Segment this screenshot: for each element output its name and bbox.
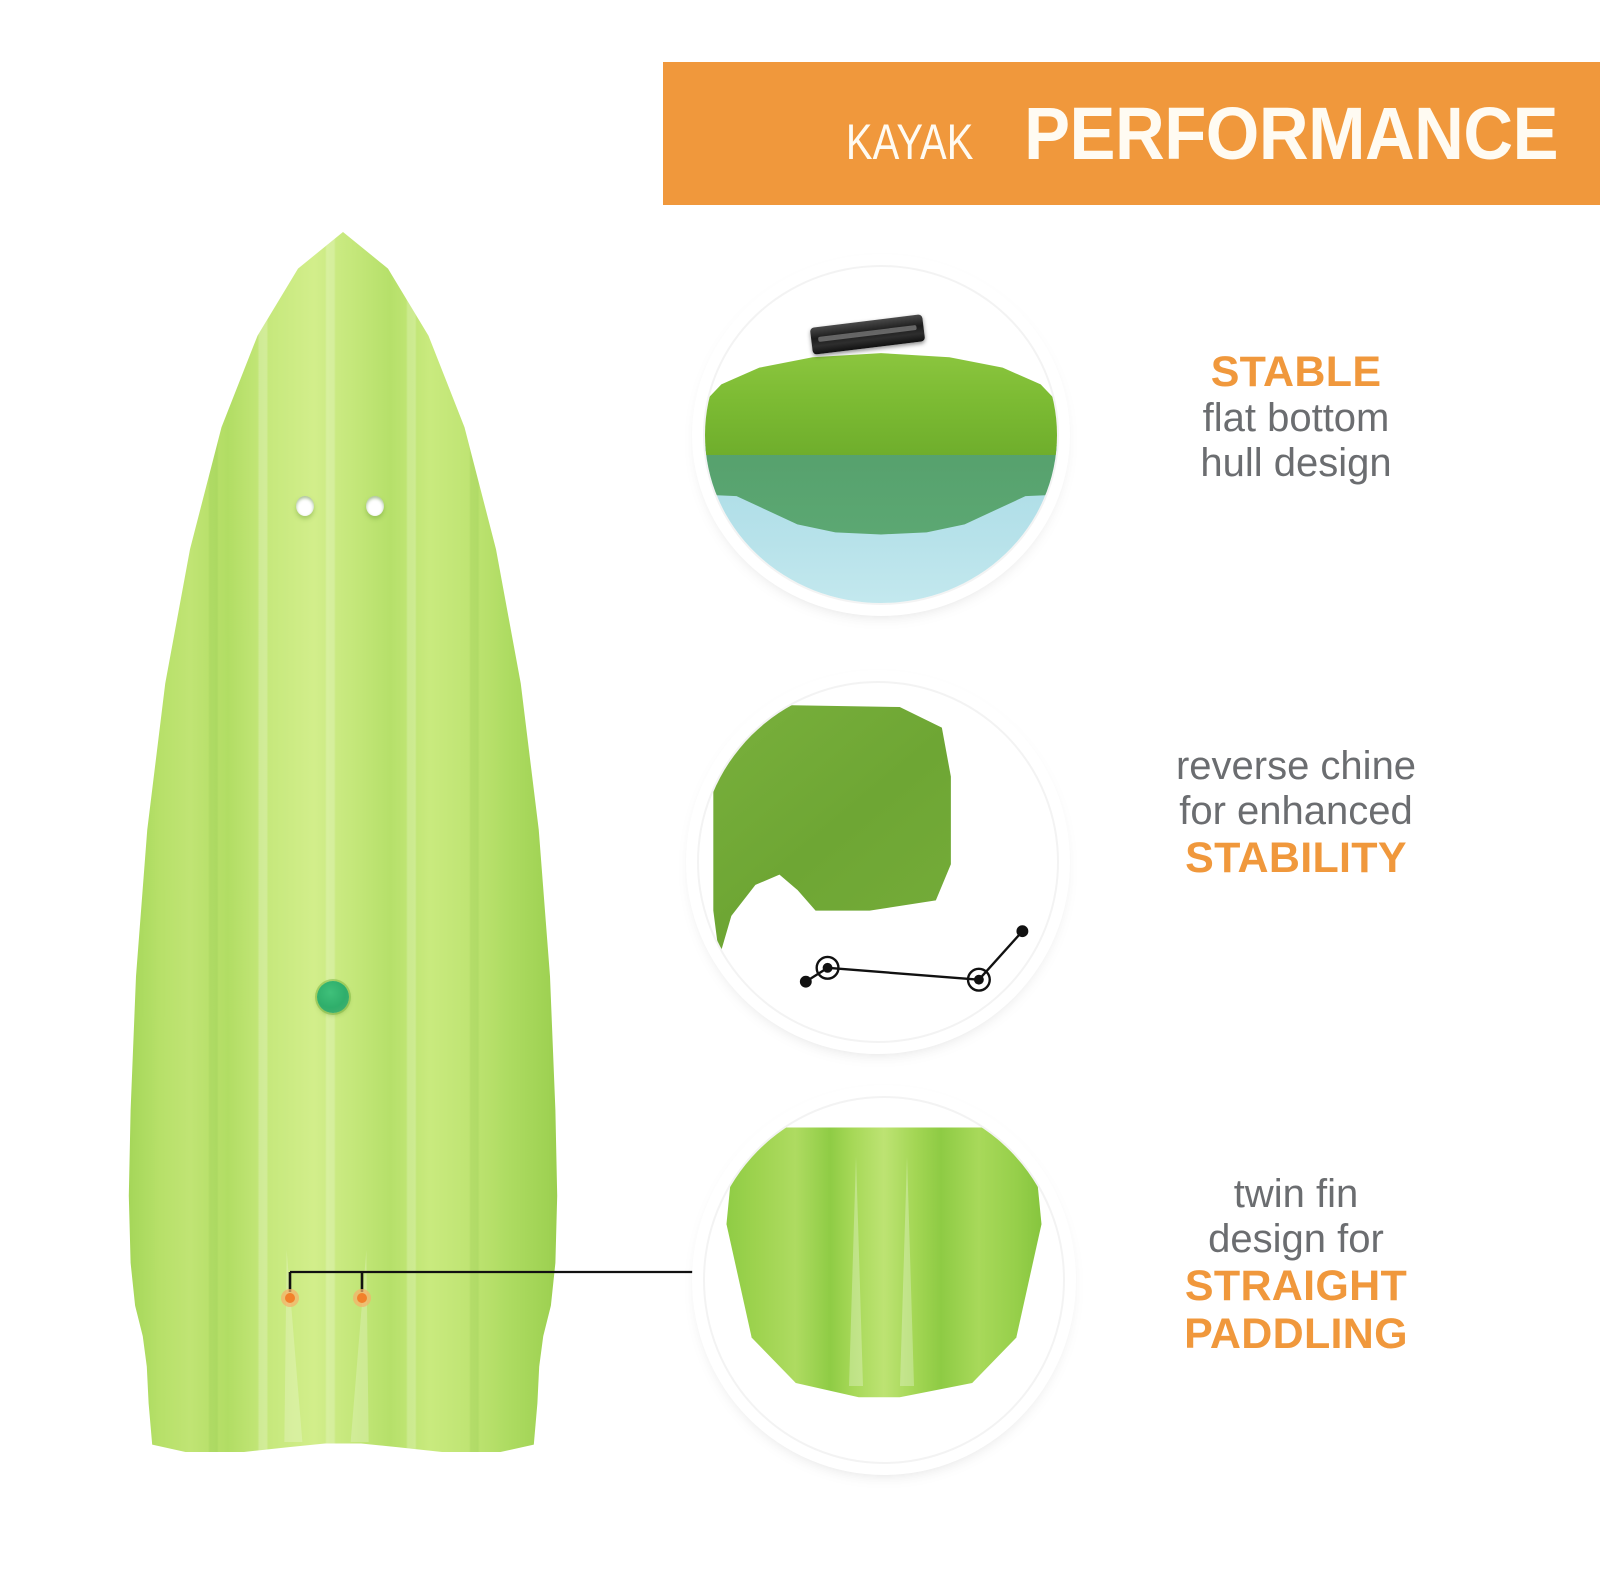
label-twin-fin: twin fin design for STRAIGHT PADDLING — [1120, 1172, 1472, 1358]
grab-handle-icon — [809, 314, 924, 354]
label-fin-line2: design for — [1120, 1217, 1472, 1262]
hull-above-water — [703, 351, 1059, 455]
label-fin-line3: STRAIGHT — [1120, 1262, 1472, 1310]
stern-fin-left — [849, 1156, 863, 1386]
stern-detail — [726, 1116, 1041, 1400]
page-title-bold: PERFORMANCE — [1024, 97, 1558, 171]
callout-reverse-chine — [697, 681, 1059, 1043]
callout-twin-fin — [703, 1096, 1065, 1464]
label-fin-line4: PADDLING — [1120, 1310, 1472, 1358]
label-reverse-chine: reverse chine for enhanced STABILITY — [1118, 744, 1474, 882]
drain-hole-right-icon — [366, 496, 384, 516]
label-stable-line2: flat bottom — [1126, 396, 1466, 441]
page-title-light: KAYAK — [846, 117, 973, 167]
chine-angle-annotation — [699, 683, 1057, 1041]
page-title: KAYAK PERFORMANCE — [830, 97, 1578, 171]
drain-plug-icon — [317, 981, 349, 1013]
drain-hole-left-icon — [296, 496, 314, 516]
label-stable-line3: hull design — [1126, 441, 1466, 486]
fin-leader-line — [100, 1230, 740, 1350]
label-chine-line1: reverse chine — [1118, 744, 1474, 789]
label-stable: STABLE flat bottom hull design — [1126, 348, 1466, 486]
callout-flat-bottom-hull — [703, 265, 1059, 605]
header-banner: KAYAK PERFORMANCE — [663, 62, 1600, 205]
label-stable-line1: STABLE — [1126, 348, 1466, 396]
label-fin-line1: twin fin — [1120, 1172, 1472, 1217]
label-chine-line2: for enhanced — [1118, 789, 1474, 834]
stern-fin-right — [900, 1156, 914, 1386]
label-chine-line3: STABILITY — [1118, 834, 1474, 882]
